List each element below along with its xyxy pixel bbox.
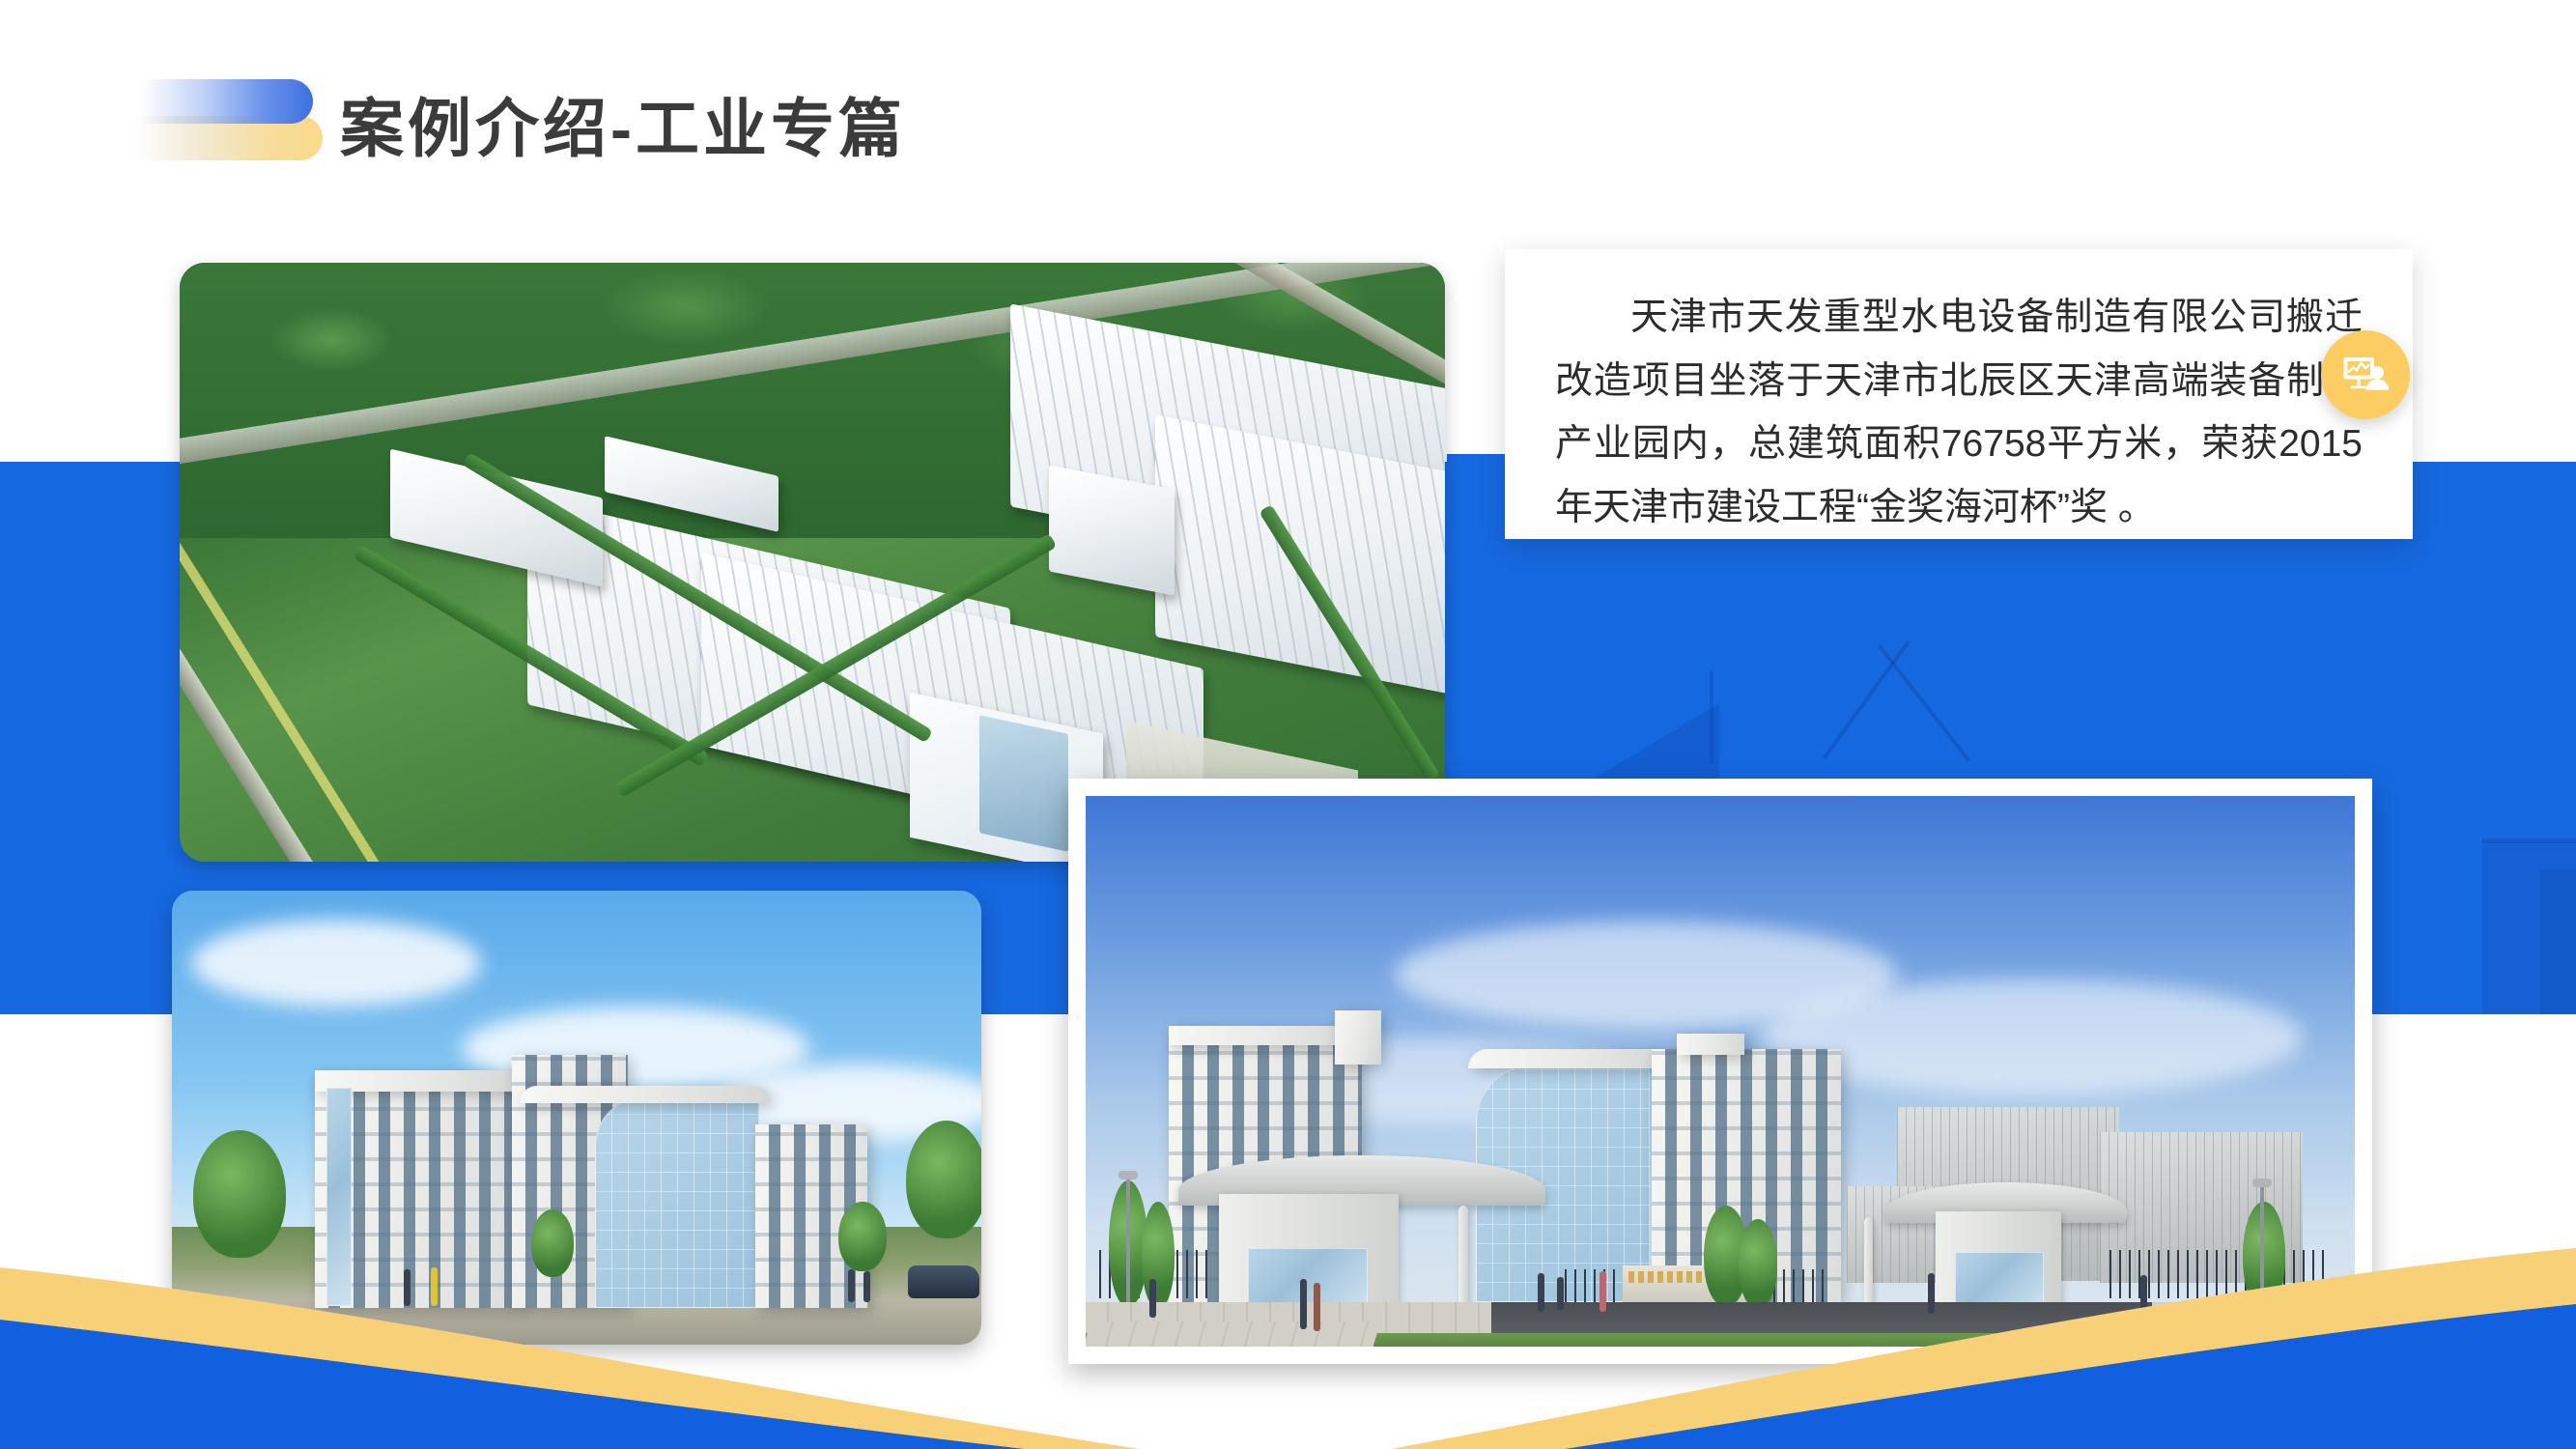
car-icon (908, 1265, 979, 1298)
tree-icon (531, 1209, 574, 1277)
office-canopy-roof (520, 1086, 771, 1103)
street-lamp-icon (1126, 1171, 1130, 1306)
project-description-text: 天津市天发重型水电设备制造有限公司搬迁改造项目坐落于天津市北辰区天津高端装备制造… (1505, 249, 2413, 539)
gate-office-topbox (1677, 1034, 1744, 1055)
page-header: 案例介绍-工业专篇 (0, 0, 2576, 222)
tree-icon (1142, 1202, 1175, 1308)
office-stair-glass (326, 1088, 352, 1306)
office-glass-curtain (595, 1097, 759, 1308)
aerial-industrial-park-photo (180, 263, 1445, 862)
cloud-shape-icon (1762, 980, 2303, 1095)
gate-crosswalk (1086, 1321, 1380, 1347)
pedestrian-icon (431, 1267, 438, 1306)
office-building-photo (172, 891, 981, 1345)
factory-entrance-photo-inner (1086, 796, 2355, 1347)
pedestrian-icon (1599, 1271, 1606, 1312)
tree-icon (193, 1130, 286, 1258)
gate-pier-right-glass (1955, 1252, 2044, 1308)
tree-icon (1739, 1219, 1777, 1308)
pedestrian-icon (404, 1269, 410, 1306)
page-title: 案例介绍-工业专篇 (340, 77, 906, 170)
gate-post (1458, 1206, 1468, 1310)
pedestrian-icon (863, 1271, 870, 1302)
pedestrian-icon (2140, 1275, 2147, 1320)
gate-pier-left-glass (1248, 1248, 1368, 1308)
slide-canvas: 案例介绍-工业专篇 天津市天发重型水电设备制造有限公司搬迁改造项目坐落于天津市北… (0, 0, 2576, 1449)
pedestrian-icon (1314, 1283, 1320, 1331)
tree-icon (2243, 1202, 2285, 1308)
title-decoration (133, 79, 326, 164)
gate-curtain-cap (1468, 1049, 1671, 1068)
pedestrian-icon (1300, 1279, 1307, 1329)
gate-office-mast (1335, 1010, 1381, 1065)
silhouette-building-top-icon (2482, 838, 2576, 843)
blue-gradient-bar-icon (141, 79, 313, 124)
gate-grille (1773, 1269, 1824, 1304)
pedestrian-icon (848, 1269, 855, 1302)
pedestrian-icon (1928, 1273, 1935, 1314)
tree-icon (906, 1121, 981, 1238)
silhouette-mast-icon (1710, 671, 1713, 764)
tree-icon (838, 1202, 887, 1271)
factory-entrance-photo (1068, 779, 2372, 1364)
aerial-glass-facade (979, 715, 1068, 852)
pedestrian-icon (1149, 1279, 1156, 1318)
gate-grille (1565, 1269, 1615, 1304)
presentation-chart-person-icon[interactable] (2321, 330, 2410, 419)
silhouette-building-icon (2540, 869, 2576, 1014)
gate-office-parapet (1169, 1026, 1362, 1045)
gate-post (1864, 1217, 1873, 1310)
cloud-shape-icon (191, 920, 481, 1007)
pedestrian-icon (1557, 1277, 1564, 1310)
project-description-card: 天津市天发重型水电设备制造有限公司搬迁改造项目坐落于天津市北辰区天津高端装备制造… (1505, 249, 2413, 539)
street-lamp-icon (2260, 1179, 2264, 1306)
pedestrian-icon (1538, 1273, 1544, 1312)
